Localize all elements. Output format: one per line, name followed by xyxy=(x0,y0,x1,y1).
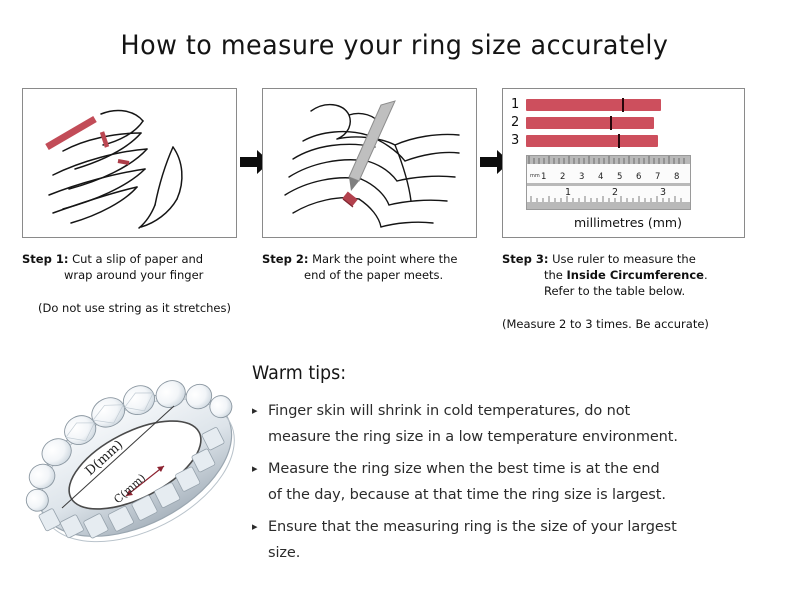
step-3-column: 1 2 3 xyxy=(502,88,745,332)
mark-tick xyxy=(622,98,624,112)
step-3-line3: Refer to the table below. xyxy=(502,283,745,299)
tip-line: Finger skin will shrink in cold temperat… xyxy=(268,398,678,424)
ruler-tick-marks xyxy=(527,156,690,209)
ruler-graphic: mm 1 2 3 4 5 6 7 8 1 2 3 xyxy=(526,155,691,210)
step-3-line2: the Inside Circumference. xyxy=(502,267,745,283)
step-2-line1: Mark the point where the xyxy=(308,252,457,266)
mark-tick xyxy=(610,116,612,130)
step-1-panel xyxy=(22,88,237,238)
strip-row: 2 xyxy=(511,116,661,130)
step-1-line1: Cut a slip of paper and xyxy=(68,252,203,266)
tip-line: Ensure that the measuring ring is the si… xyxy=(268,514,677,540)
hand-with-paper-strip-illustration xyxy=(23,89,236,237)
tip-item: ▸ Ensure that the measuring ring is the … xyxy=(252,514,772,566)
step-2-panel xyxy=(262,88,477,238)
warm-tips-section: Warm tips: ▸ Finger skin will shrink in … xyxy=(252,362,772,572)
strip-row: 3 xyxy=(511,134,661,148)
step-3-line1: Use ruler to measure the xyxy=(548,252,695,266)
strip-row: 1 xyxy=(511,98,661,112)
step-3-note: (Measure 2 to 3 times. Be accurate) xyxy=(502,317,745,332)
step-2-lead: Step 2: xyxy=(262,252,308,266)
step-3-line2-pre: the xyxy=(544,268,567,282)
diamond-eternity-ring-illustration: D(mm) C(mm) xyxy=(18,358,253,573)
tip-text: Finger skin will shrink in cold temperat… xyxy=(268,398,678,450)
tip-line: of the day, because at that time the rin… xyxy=(268,482,666,508)
bullet-triangle-icon: ▸ xyxy=(252,398,268,424)
step-3-panel: 1 2 3 xyxy=(502,88,745,238)
step-3-caption: Step 3: Use ruler to measure the the Ins… xyxy=(502,251,745,299)
step-2-caption: Step 2: Mark the point where the end of … xyxy=(262,251,477,283)
step-1-caption: Step 1: Cut a slip of paper and wrap aro… xyxy=(22,251,237,283)
tip-item: ▸ Finger skin will shrink in cold temper… xyxy=(252,398,772,450)
strip-number: 2 xyxy=(511,116,526,130)
bullet-triangle-icon: ▸ xyxy=(252,514,268,540)
tip-text: Ensure that the measuring ring is the si… xyxy=(268,514,677,566)
step-1-column: Step 1: Cut a slip of paper and wrap aro… xyxy=(22,88,237,316)
step-3-lead: Step 3: xyxy=(502,252,548,266)
step-1-note: (Do not use string as it stretches) xyxy=(22,301,237,316)
strip-number: 3 xyxy=(511,134,526,148)
paper-strip-1 xyxy=(526,99,661,111)
page-title: How to measure your ring size accurately xyxy=(24,30,766,61)
ring-diagram: D(mm) C(mm) xyxy=(18,358,253,573)
tip-text: Measure the ring size when the best time… xyxy=(268,456,666,508)
strip-number: 1 xyxy=(511,98,526,112)
measured-strips-group: 1 2 3 xyxy=(511,98,661,152)
inside-circumference-emphasis: Inside Circumference xyxy=(567,268,704,282)
step-3-line2-post: . xyxy=(704,268,708,282)
step-1-line2: wrap around your finger xyxy=(22,267,237,283)
ruler-caption: millimetres (mm) xyxy=(538,215,718,230)
paper-strip-3 xyxy=(526,135,658,147)
tip-line: size. xyxy=(268,540,677,566)
paper-strip-2 xyxy=(526,117,654,129)
hand-marking-paper-illustration xyxy=(263,89,476,237)
tip-line: measure the ring size in a low temperatu… xyxy=(268,424,678,450)
tip-item: ▸ Measure the ring size when the best ti… xyxy=(252,456,772,508)
bullet-triangle-icon: ▸ xyxy=(252,456,268,482)
step-2-line2: end of the paper meets. xyxy=(262,267,477,283)
steps-row: Step 1: Cut a slip of paper and wrap aro… xyxy=(0,88,789,338)
tip-line: Measure the ring size when the best time… xyxy=(268,456,666,482)
mark-tick xyxy=(618,134,620,148)
warm-tips-heading: Warm tips: xyxy=(252,362,730,384)
step-1-lead: Step 1: xyxy=(22,252,68,266)
step-2-column: Step 2: Mark the point where the end of … xyxy=(262,88,477,301)
